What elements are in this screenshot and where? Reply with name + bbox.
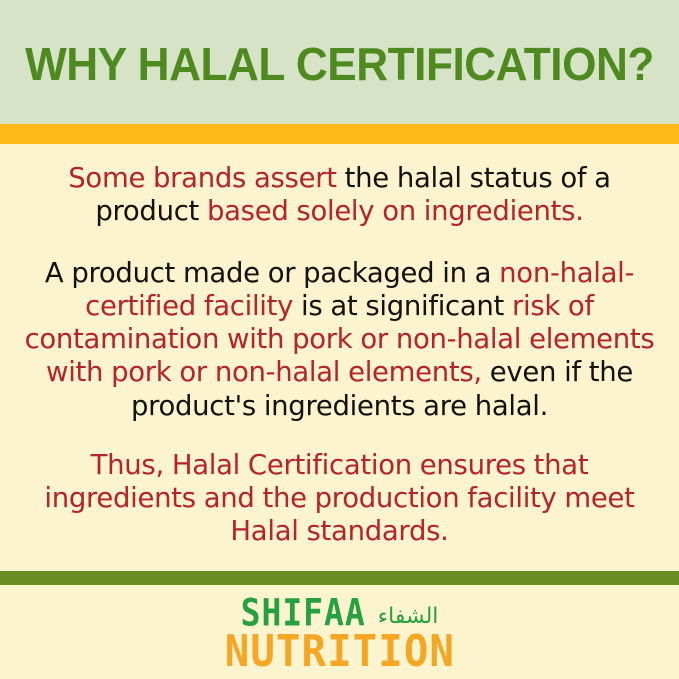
brand-name-nutrition: NUTRITION xyxy=(224,631,454,673)
footer: SHIFAA الشفاء NUTRITION xyxy=(0,571,679,679)
body-content: Some brands assert the halal status of a… xyxy=(0,144,679,571)
brand-logo-top-row: SHIFAA الشفاء xyxy=(241,599,439,630)
paragraph-3: Thus, Halal Certification ensures that i… xyxy=(22,449,657,549)
page-title: WHY HALAL CERTIFICATION? xyxy=(25,37,654,87)
halal-certification-infographic: WHY HALAL CERTIFICATION? Some brands ass… xyxy=(0,0,679,679)
orange-accent-bar xyxy=(0,124,679,144)
paragraph-1-segment-highlight-2: based solely on ingredients. xyxy=(207,195,584,227)
brand-logo: SHIFAA الشفاء NUTRITION xyxy=(0,585,679,679)
paragraph-2: A product made or packaged in a non-hala… xyxy=(22,257,657,423)
paragraph-2-segment-normal-1: A product made or packaged in a xyxy=(45,257,499,289)
paragraph-1: Some brands assert the halal status of a… xyxy=(22,162,657,229)
header-band: WHY HALAL CERTIFICATION? xyxy=(0,0,679,124)
green-divider-bar xyxy=(0,571,679,585)
paragraph-1-segment-highlight-1: Some brands assert xyxy=(68,162,336,194)
paragraph-2-segment-normal-2: is at significant xyxy=(293,290,512,322)
brand-name-shifaa: SHIFAA xyxy=(241,595,366,630)
